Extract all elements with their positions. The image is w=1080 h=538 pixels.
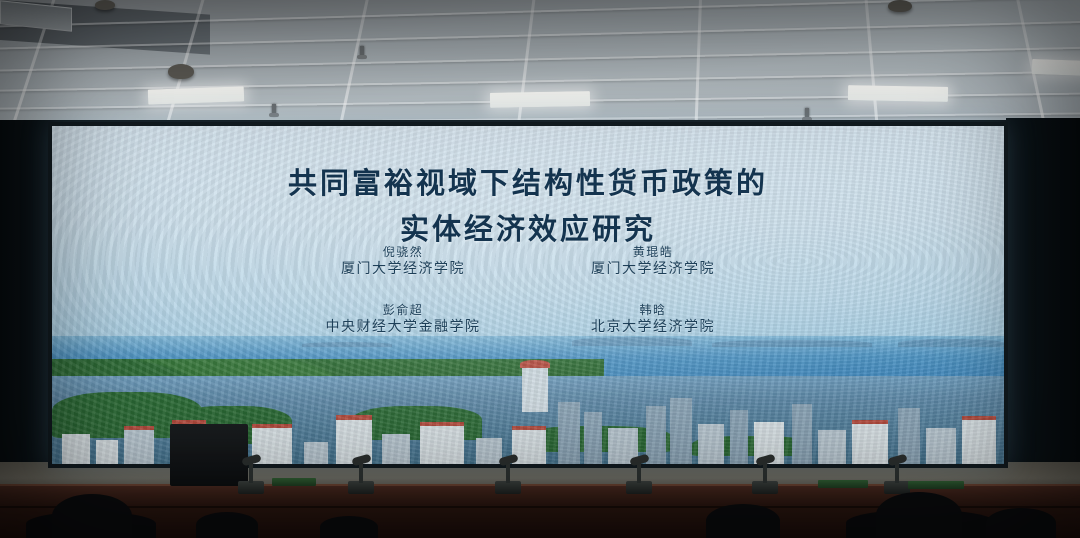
light-fixture	[490, 91, 590, 108]
author-name: 倪骁然	[278, 244, 528, 260]
ceiling	[0, 0, 1080, 128]
audience-head	[52, 494, 132, 538]
audience-head	[320, 516, 378, 538]
author-name: 韩晗	[528, 302, 778, 318]
author-entry: 倪骁然 厦门大学经济学院	[278, 244, 528, 278]
conference-hall-scene: 共同富裕视域下结构性货币政策的 实体经济效应研究 倪骁然 厦门大学经济学院 黄琨…	[0, 0, 1080, 538]
light-fixture	[148, 86, 244, 104]
author-affiliation: 北京大学经济学院	[528, 318, 778, 336]
ceiling-runner	[508, 0, 539, 128]
ceiling-runner	[692, 0, 703, 128]
audience-head	[196, 512, 258, 538]
author-entry: 彭俞超 中央财经大学金融学院	[278, 302, 528, 336]
nameplate	[908, 481, 964, 489]
author-name: 黄琨皓	[528, 244, 778, 260]
light-fixture	[848, 85, 948, 102]
audience-head	[876, 492, 962, 538]
author-row: 彭俞超 中央财经大学金融学院 韩晗 北京大学经济学院	[52, 302, 1004, 336]
author-affiliation: 厦门大学经济学院	[528, 260, 778, 278]
light-fixture	[1032, 59, 1080, 76]
nameplate	[272, 478, 316, 486]
slide-content: 共同富裕视域下结构性货币政策的 实体经济效应研究 倪骁然 厦门大学经济学院 黄琨…	[52, 126, 1004, 464]
right-wall	[1006, 118, 1080, 470]
led-video-wall: 共同富裕视域下结构性货币政策的 实体经济效应研究 倪骁然 厦门大学经济学院 黄琨…	[52, 126, 1004, 464]
slide-title-line-1: 共同富裕视域下结构性货币政策的	[52, 160, 1004, 202]
ceiling-runner	[862, 0, 885, 128]
sprinkler-head	[272, 104, 276, 116]
sprinkler-head	[805, 108, 809, 120]
projection-screen-frame: 共同富裕视域下结构性货币政策的 实体经济效应研究 倪骁然 厦门大学经济学院 黄琨…	[48, 122, 1008, 468]
author-affiliation: 中央财经大学金融学院	[278, 318, 528, 336]
author-entry: 韩晗 北京大学经济学院	[528, 302, 778, 336]
audience-head	[986, 508, 1056, 538]
nameplate	[818, 480, 868, 488]
author-name: 彭俞超	[278, 302, 528, 318]
slide-title-line-2: 实体经济效应研究	[52, 206, 1004, 248]
sprinkler-head	[360, 46, 364, 58]
smoke-detector	[888, 0, 912, 12]
author-affiliation: 厦门大学经济学院	[278, 260, 528, 278]
author-entry: 黄琨皓 厦门大学经济学院	[528, 244, 778, 278]
smoke-detector	[95, 0, 115, 10]
audience-head	[706, 504, 780, 538]
author-row: 倪骁然 厦门大学经济学院 黄琨皓 厦门大学经济学院	[52, 244, 1004, 278]
smoke-detector	[168, 64, 194, 79]
